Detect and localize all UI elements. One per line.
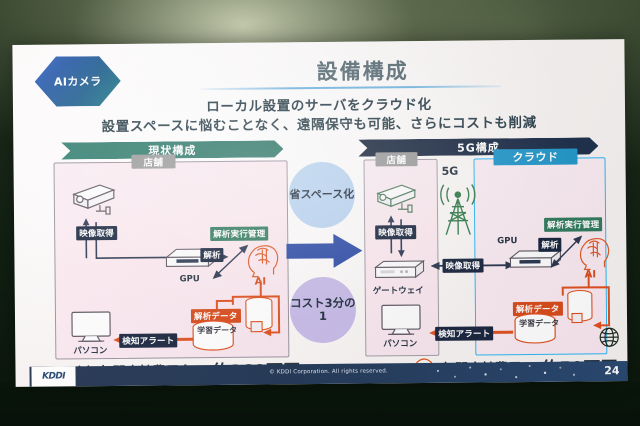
security-camera-icon: [70, 181, 122, 217]
room-floor-shadow: [0, 382, 640, 426]
transition-arrow-icon: [286, 234, 362, 269]
right-pc-monitor-icon: [379, 303, 423, 337]
badge-label: AIカメラ: [54, 73, 102, 89]
cost-reduction-circle: コスト3分の1: [290, 277, 357, 344]
5g-network-label: 5G: [442, 165, 459, 178]
cloud-tab-label: クラウド: [512, 149, 558, 165]
globe-icon: [597, 325, 621, 349]
left-store-tab-label: 店舗: [143, 155, 163, 169]
space-saving-label: 省スペース化: [289, 188, 354, 201]
5g-antenna-tower-icon: [436, 178, 481, 240]
right-video-capture-tag-1: 映像取得: [375, 225, 416, 239]
left-pc-monitor-icon: [69, 310, 113, 344]
left-detect-alert-tag: 検知アラート: [119, 333, 177, 348]
left-store-tab: 店舗: [131, 154, 175, 168]
right-security-camera-icon: [374, 181, 422, 215]
right-gpu-label: GPU: [497, 236, 517, 246]
left-training-data-label: 学習データ: [197, 326, 231, 336]
right-analysis-tag: 解析: [538, 238, 562, 252]
right-ai-brain-icon: [576, 231, 614, 273]
right-analysis-exec-tag: 解析実行管理: [544, 217, 602, 232]
space-saving-circle: 省スペース化: [289, 162, 356, 229]
right-video-capture-tag-2: 映像取得: [442, 258, 483, 272]
gateway-router-icon: [371, 257, 427, 284]
right-store-tab-label: 店舗: [386, 152, 406, 166]
left-analysis-database-icon: [241, 295, 277, 335]
left-analysis-tag: 解析: [200, 248, 224, 262]
right-training-data-label: 学習データ: [519, 319, 553, 329]
right-analysis-database-icon: [563, 288, 597, 328]
left-ai-brain-icon: [244, 238, 284, 280]
cloud-tab: クラウド: [493, 149, 577, 166]
page-number: 24: [604, 364, 619, 377]
left-pc-label: パソコン: [73, 344, 107, 356]
right-store-tab: 店舗: [375, 152, 417, 166]
presentation-slide: AIカメラ 設備構成 ローカル設置のサーバをクラウド化 設置スペースに悩むことな…: [12, 39, 627, 387]
page-title: 設備構成: [212, 54, 512, 87]
gateway-label: ゲートウェイ: [373, 284, 424, 296]
right-pc-label: パソコン: [383, 337, 417, 349]
cost-reduction-label: コスト3分の1: [290, 296, 356, 323]
left-video-capture-tag: 映像取得: [76, 226, 117, 240]
right-detect-alert-tag: 検知アラート: [435, 326, 493, 341]
